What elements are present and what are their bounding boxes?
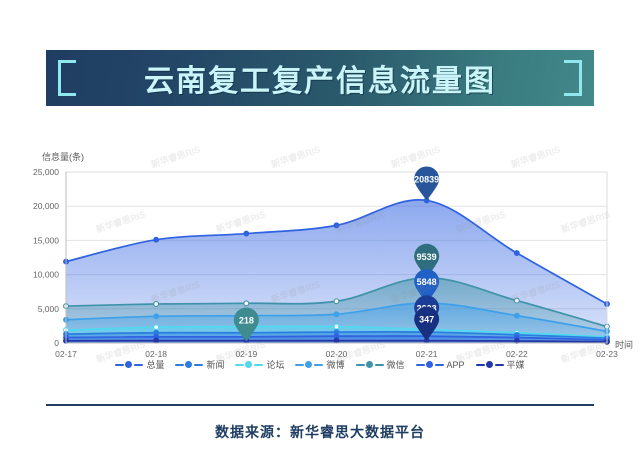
data-point[interactable] [514, 298, 519, 303]
footer-divider [46, 404, 594, 406]
y-tick-label: 0 [54, 338, 59, 348]
legend-swatch-icon [254, 364, 263, 366]
y-tick-label: 15,000 [33, 235, 59, 245]
x-axis-title: 时间 [615, 339, 633, 350]
value-marker-label: 5848 [417, 277, 437, 287]
y-tick-label: 20,000 [33, 201, 59, 211]
data-point[interactable] [334, 223, 339, 228]
legend-label: 平媒 [507, 358, 525, 371]
legend-swatch-icon [314, 364, 323, 366]
legend-swatch-icon [476, 364, 485, 366]
legend-item[interactable]: 论坛 [235, 358, 284, 371]
legend-swatch-icon [194, 364, 203, 366]
legend-swatch-icon [375, 364, 384, 366]
legend-swatch-icon [235, 364, 244, 366]
y-axis-title: 信息量(条) [42, 151, 84, 162]
data-point[interactable] [244, 231, 249, 236]
y-tick-label: 5,000 [38, 304, 60, 314]
data-point[interactable] [154, 338, 159, 343]
y-tick-label: 25,000 [33, 167, 59, 177]
chart-legend: 总量新闻论坛微博微信APP平媒 [0, 358, 640, 371]
legend-label: 新闻 [206, 358, 224, 371]
legend-label: 微信 [387, 358, 405, 371]
legend-item[interactable]: 总量 [115, 358, 164, 371]
page-title: 云南复工复产信息流量图 [144, 56, 496, 100]
legend-swatch-icon [495, 364, 504, 366]
value-marker-label: 347 [419, 315, 434, 325]
y-tick-label: 10,000 [33, 270, 59, 280]
legend-label: 总量 [146, 358, 164, 371]
title-banner: 云南复工复产信息流量图 [46, 50, 594, 106]
legend-swatch-icon [356, 364, 365, 366]
value-marker-label: 218 [239, 316, 254, 326]
legend-dot-icon [185, 361, 192, 368]
legend-item[interactable]: 平媒 [476, 358, 525, 371]
legend-item[interactable]: 微信 [356, 358, 405, 371]
data-point[interactable] [154, 314, 159, 319]
bracket-right-icon [564, 60, 582, 96]
infographic-root: 云南复工复产信息流量图 05,00010,00015,00020,00025,0… [0, 0, 640, 465]
legend-item[interactable]: APP [416, 360, 465, 370]
flow-area-chart: 05,00010,00015,00020,00025,000信息量(条)02-1… [0, 118, 640, 388]
legend-dot-icon [486, 361, 493, 368]
data-point[interactable] [334, 338, 339, 343]
legend-dot-icon [245, 361, 252, 368]
legend-label: 论坛 [266, 358, 284, 371]
legend-swatch-icon [175, 364, 184, 366]
value-marker-label: 9539 [417, 252, 437, 262]
legend-swatch-icon [435, 364, 444, 366]
data-point[interactable] [334, 312, 339, 317]
data-source-text: 数据来源：新华睿思大数据平台 [0, 422, 640, 442]
legend-dot-icon [305, 361, 312, 368]
data-point[interactable] [514, 313, 519, 318]
legend-swatch-icon [295, 364, 304, 366]
legend-dot-icon [426, 361, 433, 368]
legend-swatch-icon [416, 364, 425, 366]
value-marker-label: 20839 [414, 174, 439, 184]
legend-label: APP [447, 360, 465, 370]
legend-item[interactable]: 微博 [295, 358, 344, 371]
data-point[interactable] [154, 302, 159, 307]
data-point[interactable] [334, 299, 339, 304]
legend-item[interactable]: 新闻 [175, 358, 224, 371]
legend-label: 微博 [326, 358, 344, 371]
chart-container: 05,00010,00015,00020,00025,000信息量(条)02-1… [0, 118, 640, 388]
bracket-left-icon [58, 60, 76, 96]
data-point[interactable] [244, 301, 249, 306]
data-point[interactable] [154, 237, 159, 242]
legend-dot-icon [366, 361, 373, 368]
legend-dot-icon [125, 361, 132, 368]
data-point[interactable] [154, 325, 159, 330]
legend-swatch-icon [134, 364, 143, 366]
data-point[interactable] [514, 251, 519, 256]
data-point[interactable] [334, 324, 339, 329]
legend-swatch-icon [115, 364, 124, 366]
